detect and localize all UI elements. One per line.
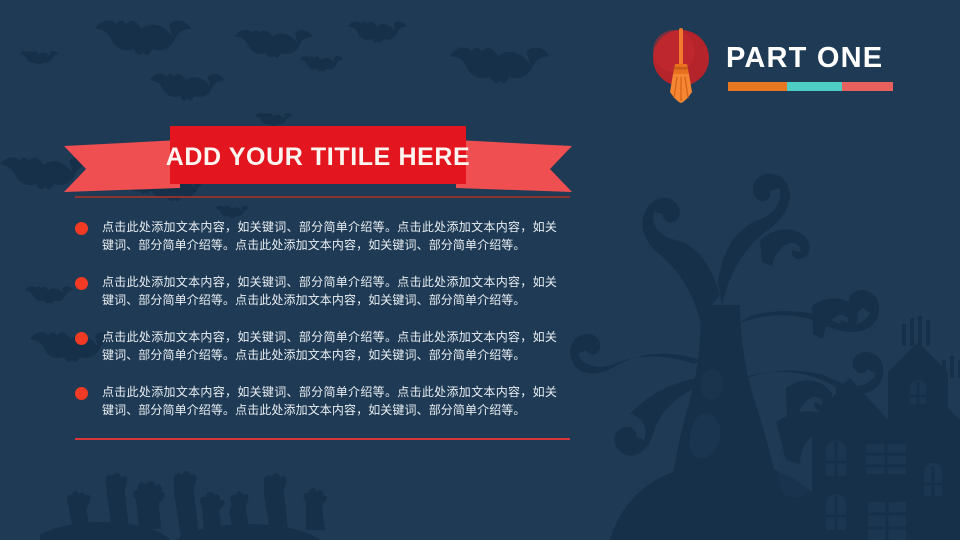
list-item: 点击此处添加文本内容，如关键词、部分简单介绍等。点击此处添加文本内容，如关键词、… xyxy=(75,273,570,309)
paragraph-text: 点击此处添加文本内容，如关键词、部分简单介绍等。点击此处添加文本内容，如关键词、… xyxy=(102,273,557,309)
divider-bottom xyxy=(75,438,570,440)
list-item: 点击此处添加文本内容，如关键词、部分简单介绍等。点击此处添加文本内容，如关键词、… xyxy=(75,383,570,419)
title-ribbon: ADD YOUR TITILE HERE xyxy=(62,118,574,198)
paragraph-text: 点击此处添加文本内容，如关键词、部分简单介绍等。点击此处添加文本内容，如关键词、… xyxy=(102,328,557,364)
haunted-tree-silhouette xyxy=(550,120,960,540)
paragraph-text: 点击此处添加文本内容，如关键词、部分简单介绍等。点击此处添加文本内容，如关键词、… xyxy=(102,383,557,419)
bullet-dot xyxy=(75,277,88,290)
bullet-dot xyxy=(75,332,88,345)
accent-bar xyxy=(728,82,893,91)
accent-segment-coral xyxy=(842,82,893,91)
haunted-house-silhouette xyxy=(812,316,960,540)
content-block: 点击此处添加文本内容，如关键词、部分简单介绍等。点击此处添加文本内容，如关键词、… xyxy=(75,196,570,440)
bullet-dot xyxy=(75,222,88,235)
accent-segment-teal xyxy=(787,82,841,91)
accent-segment-orange xyxy=(728,82,787,91)
list-item: 点击此处添加文本内容，如关键词、部分简单介绍等。点击此处添加文本内容，如关键词、… xyxy=(75,218,570,254)
bullet-dot xyxy=(75,387,88,400)
slide-canvas: ADD YOUR TITILE HERE PART ONE xyxy=(0,0,960,540)
broom-icon xyxy=(650,22,720,104)
zombie-hands-silhouette xyxy=(40,470,370,540)
list-item: 点击此处添加文本内容，如关键词、部分简单介绍等。点击此处添加文本内容，如关键词、… xyxy=(75,328,570,364)
part-title: PART ONE xyxy=(726,42,883,75)
part-header: PART ONE xyxy=(650,18,895,104)
ribbon-title: ADD YOUR TITILE HERE xyxy=(62,118,574,198)
paragraph-text: 点击此处添加文本内容，如关键词、部分简单介绍等。点击此处添加文本内容，如关键词、… xyxy=(102,218,557,254)
